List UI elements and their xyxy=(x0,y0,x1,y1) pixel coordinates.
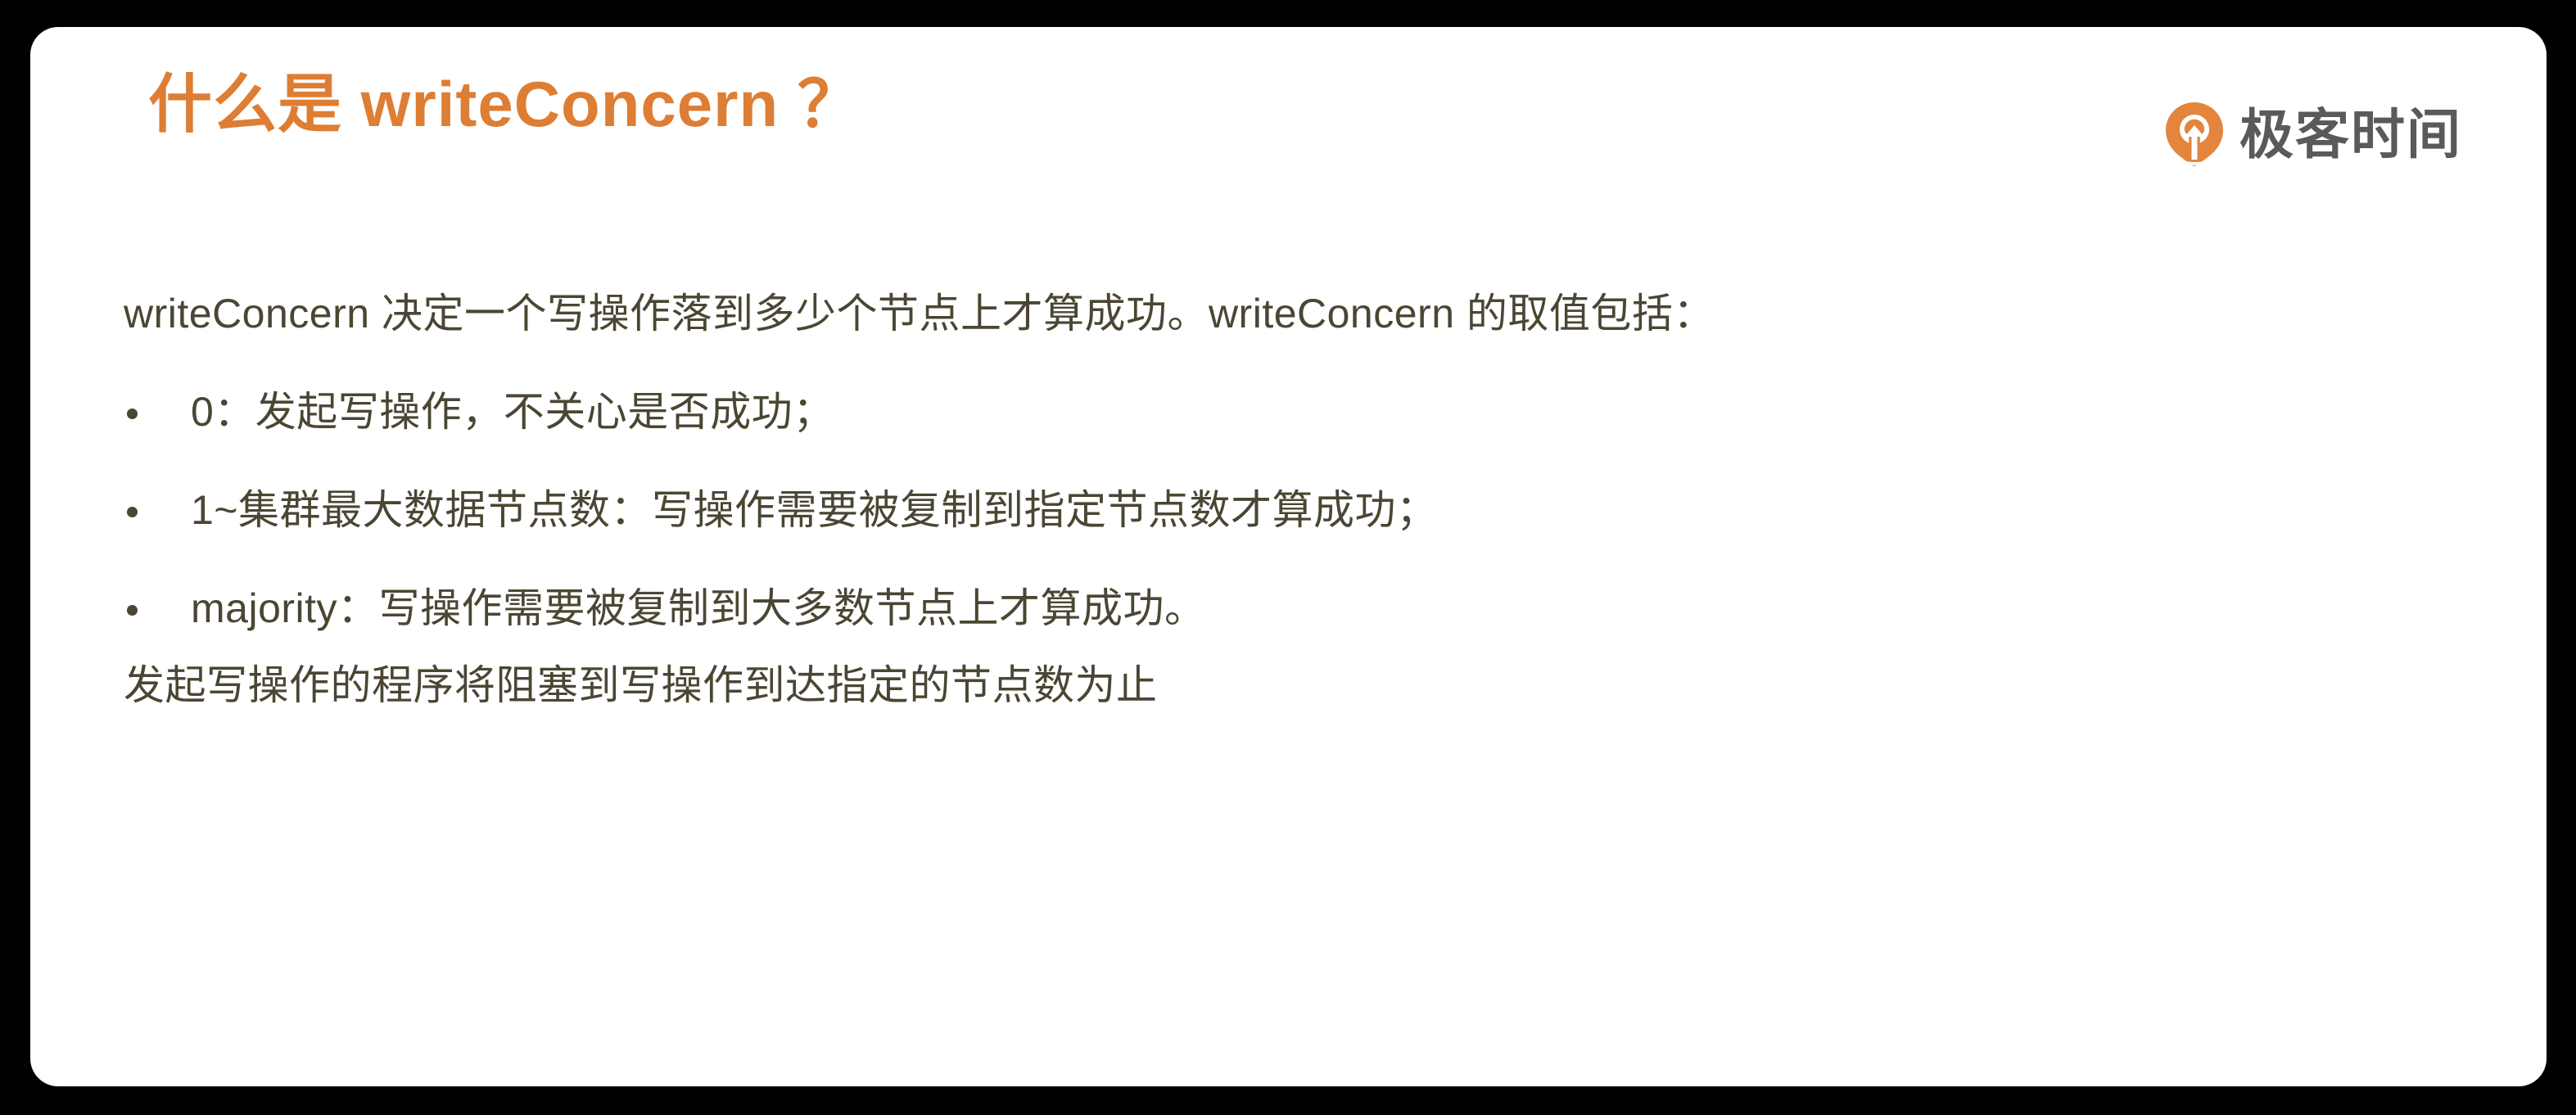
list-item: 1~集群最大数据节点数：写操作需要被复制到指定节点数才算成功； xyxy=(93,485,2481,535)
bullet-list: 0：发起写操作，不关心是否成功； 1~集群最大数据节点数：写操作需要被复制到指定… xyxy=(93,387,2481,633)
intro-paragraph: writeConcern 决定一个写操作落到多少个节点上才算成功。writeCo… xyxy=(93,289,2481,338)
brand-name: 极客时间 xyxy=(2239,107,2462,161)
bullet-dot-icon xyxy=(127,507,138,517)
bullet-dot-icon xyxy=(127,605,138,616)
list-item: 0：发起写操作，不关心是否成功； xyxy=(93,387,2481,436)
bullet-dot-icon xyxy=(127,409,138,419)
list-item-label: 0：发起写操作，不关心是否成功； xyxy=(191,389,834,435)
slide-body: writeConcern 决定一个写操作落到多少个节点上才算成功。writeCo… xyxy=(93,289,2481,710)
brand-logo: 极客时间 xyxy=(2162,101,2462,168)
outro-paragraph: 发起写操作的程序将阻塞到写操作到达指定的节点数为止 xyxy=(93,661,2481,710)
page-title: 什么是 writeConcern ？ xyxy=(148,70,862,140)
geektime-pin-logo-icon xyxy=(2162,101,2226,168)
list-item: majority：写操作需要被复制到大多数节点上才算成功。 xyxy=(93,584,2481,633)
list-item-label: majority：写操作需要被复制到大多数节点上才算成功。 xyxy=(191,585,1206,631)
list-item-label: 1~集群最大数据节点数：写操作需要被复制到指定节点数才算成功； xyxy=(191,487,1438,533)
slide-root: 什么是 writeConcern ？ 极客时间 writeConcern 决定一… xyxy=(0,0,2576,1115)
slide-card: 什么是 writeConcern ？ 极客时间 writeConcern 决定一… xyxy=(30,27,2547,1086)
slide-header: 什么是 writeConcern ？ 极客时间 xyxy=(30,27,2547,191)
